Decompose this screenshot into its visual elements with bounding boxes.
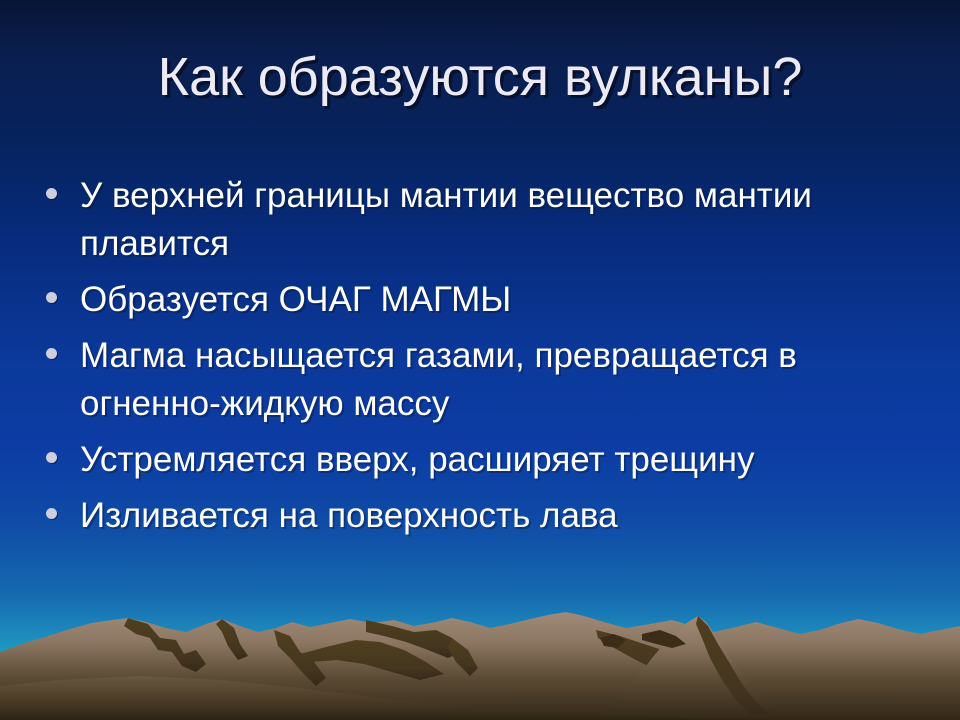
bullet-text: Магма насыщается газами, превращается в …: [80, 332, 910, 428]
bullet-dot-icon: [46, 508, 57, 519]
slide-title: Как образуются вулканы?: [0, 46, 960, 108]
list-item: Устремляется вверх, расширяет трещину: [46, 436, 926, 484]
bullet-dot-icon: [46, 292, 57, 303]
bullet-text: У верхней границы мантии вещество мантии…: [80, 172, 870, 268]
bullet-dot-icon: [46, 452, 57, 463]
list-item: Изливается на поверхность лава: [46, 492, 926, 540]
bullet-list: У верхней границы мантии вещество мантии…: [46, 172, 926, 548]
presentation-slide: Как образуются вулканы? У верхней границ…: [0, 0, 960, 720]
mountain-silhouette-graphic: [0, 610, 960, 720]
bullet-text: Устремляется вверх, расширяет трещину: [80, 436, 800, 484]
bullet-dot-icon: [46, 188, 57, 199]
bullet-dot-icon: [46, 348, 57, 359]
list-item: Образуется ОЧАГ МАГМЫ: [46, 276, 926, 324]
list-item: Магма насыщается газами, превращается в …: [46, 332, 926, 428]
list-item: У верхней границы мантии вещество мантии…: [46, 172, 926, 268]
bullet-text: Изливается на поверхность лава: [80, 492, 926, 540]
bullet-text: Образуется ОЧАГ МАГМЫ: [80, 276, 926, 324]
